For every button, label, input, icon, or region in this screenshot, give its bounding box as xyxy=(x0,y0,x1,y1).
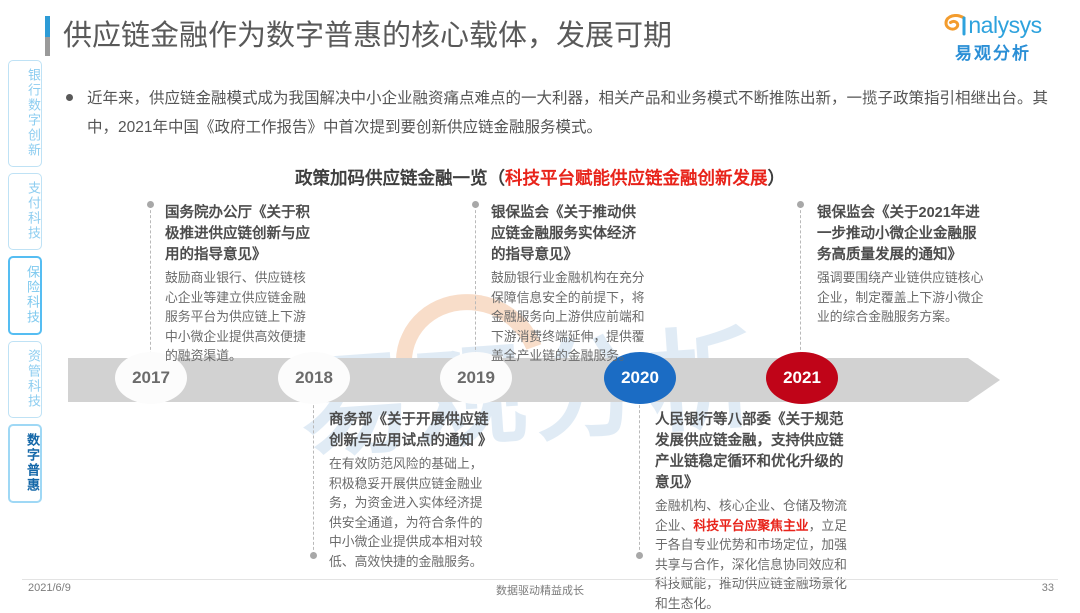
timeline-node-label: 2020 xyxy=(621,368,659,388)
figure-title-main: 政策加码供应链金融一览（ xyxy=(295,168,505,188)
policy-card-2018: 商务部《关于开展供应链创新与应用试点的通知 》 在有效防范风险的基础上，积极稳妥… xyxy=(329,410,489,571)
policy-card-title: 银保监会《关于推动供应链金融服务实体经济的指导意见》 xyxy=(491,203,648,266)
sidebar-item-label: 资管科技 xyxy=(9,349,41,409)
connector-dot-icon xyxy=(310,552,317,559)
connector-dot-icon xyxy=(797,201,804,208)
brand-wordmark: nalysys xyxy=(968,14,1041,37)
connector-dot-icon xyxy=(636,552,643,559)
policy-card-2017: 国务院办公厅《关于积极推进供应链创新与应用的指导意见》 鼓励商业银行、供应链核心… xyxy=(165,203,317,366)
policy-card-body-emphasis: 科技平台应聚焦主业 xyxy=(693,518,808,533)
figure-title-emphasis: 科技平台赋能供应链金融创新发展 xyxy=(505,168,768,188)
sidebar-item-label: 支付科技 xyxy=(9,181,41,241)
brand-logo: nalysys 易观分析 xyxy=(928,12,1058,64)
sidebar: 银行数字创新 支付科技 保险科技 资管科技 数字普惠 xyxy=(8,60,44,509)
figure-title-tail: ） xyxy=(768,168,786,188)
timeline-node-label: 2021 xyxy=(783,368,821,388)
page-title: 供应链金融作为数字普惠的核心载体，发展可期 xyxy=(45,16,672,56)
sidebar-item-asset-tech[interactable]: 资管科技 xyxy=(8,341,42,418)
sidebar-item-label: 保险科技 xyxy=(10,265,40,325)
connector-2020 xyxy=(639,400,640,555)
analysys-a-icon xyxy=(944,14,968,36)
connector-2019 xyxy=(475,205,476,360)
title-accent-bar xyxy=(45,16,50,56)
timeline-node-2021[interactable]: 2021 xyxy=(766,352,838,404)
slide-root: 易观分析 供应链金融作为数字普惠的核心载体，发展可期 nalysys 易观分析 … xyxy=(0,0,1080,608)
policy-card-body: 在有效防范风险的基础上，积极稳妥开展供应链金融业务，为资金进入实体经济提供安全通… xyxy=(329,454,489,571)
policy-card-body: 鼓励银行业金融机构在充分保障信息安全的前提下，将金融服务向上游供应前端和下游消费… xyxy=(491,268,648,366)
connector-2018 xyxy=(313,400,314,555)
timeline-node-label: 2019 xyxy=(457,368,495,388)
figure-title: 政策加码供应链金融一览（科技平台赋能供应链金融创新发展） xyxy=(0,165,1080,190)
intro-bullet-text: 近年来，供应链金融模式成为我国解决中小企业融资痛点难点的一大利器，相关产品和业务… xyxy=(87,84,1056,142)
connector-dot-icon xyxy=(472,201,479,208)
connector-dot-icon xyxy=(147,201,154,208)
timeline-node-label: 2017 xyxy=(132,368,170,388)
bullet-dot-icon xyxy=(66,94,73,101)
policy-card-2021: 银保监会《关于2021年进一步推动小微企业金融服务高质量发展的通知》 强调要围绕… xyxy=(817,203,985,327)
sidebar-item-insurance-tech[interactable]: 保险科技 xyxy=(8,256,42,335)
sidebar-item-label: 银行数字创新 xyxy=(9,68,41,158)
brand-name-cn: 易观分析 xyxy=(928,39,1058,64)
footer-divider xyxy=(22,579,1058,580)
footer-tagline: 数据驱动精益成长 xyxy=(0,582,1080,598)
footer-page-number: 33 xyxy=(1042,582,1054,594)
policy-card-title: 人民银行等八部委《关于规范发展供应链金融，支持供应链产业链稳定循环和优化升级的意… xyxy=(655,410,850,494)
sidebar-item-digital-inclusive[interactable]: 数字普惠 xyxy=(8,424,42,503)
policy-card-body: 鼓励商业银行、供应链核心企业等建立供应链金融服务平台为供应链上下游中小微企业提供… xyxy=(165,268,317,366)
intro-bullet: 近年来，供应链金融模式成为我国解决中小企业融资痛点难点的一大利器，相关产品和业务… xyxy=(66,84,1056,142)
connector-2021 xyxy=(800,205,801,360)
timeline-arrowhead-icon xyxy=(968,358,1000,402)
footer: 2021/6/9 数据驱动精益成长 33 xyxy=(0,582,1080,600)
sidebar-item-bank-digital[interactable]: 银行数字创新 xyxy=(8,60,42,167)
policy-card-title: 商务部《关于开展供应链创新与应用试点的通知 》 xyxy=(329,410,489,452)
policy-card-body: 强调要围绕产业链供应链核心企业，制定覆盖上下游小微企业的综合金融服务方案。 xyxy=(817,268,985,327)
policy-card-title: 银保监会《关于2021年进一步推动小微企业金融服务高质量发展的通知》 xyxy=(817,203,985,266)
policy-card-title: 国务院办公厅《关于积极推进供应链创新与应用的指导意见》 xyxy=(165,203,317,266)
timeline-node-label: 2018 xyxy=(295,368,333,388)
page-title-text: 供应链金融作为数字普惠的核心载体，发展可期 xyxy=(63,16,672,56)
connector-2017 xyxy=(150,205,151,360)
policy-card-2019: 银保监会《关于推动供应链金融服务实体经济的指导意见》 鼓励银行业金融机构在充分保… xyxy=(491,203,648,366)
sidebar-item-label: 数字普惠 xyxy=(10,433,40,493)
